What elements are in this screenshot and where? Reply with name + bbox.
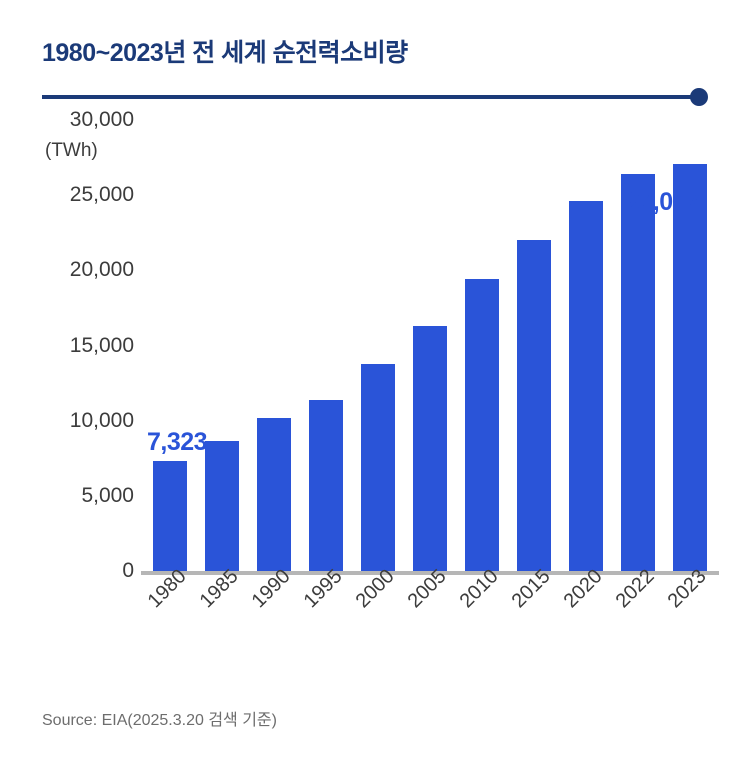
end-dot-icon xyxy=(690,88,708,106)
value-callout-last: 27,047 xyxy=(626,188,699,217)
x-axis-tick-slot: 2020 xyxy=(560,575,612,655)
x-axis-tick-slot: 1990 xyxy=(248,575,300,655)
bar[interactable] xyxy=(257,418,291,571)
bar-slot xyxy=(196,120,248,571)
bar-slot xyxy=(300,120,352,571)
y-axis-tick: 5,000 xyxy=(0,484,134,508)
bar-slot xyxy=(456,120,508,571)
bar[interactable] xyxy=(673,164,707,571)
x-axis-tick-slot: 1980 xyxy=(144,575,196,655)
infographic-chart-card: 1980~2023년 전 세계 순전력소비량 (TWh) 05,00010,00… xyxy=(0,0,745,764)
bar-chart: (TWh) 05,00010,00015,00020,00025,00030,0… xyxy=(0,120,745,660)
y-axis-tick: 10,000 xyxy=(0,409,134,433)
bar[interactable] xyxy=(569,201,603,571)
y-axis-tick: 0 xyxy=(0,559,134,583)
y-axis-tick: 20,000 xyxy=(0,258,134,282)
x-axis-tick-slot: 1995 xyxy=(300,575,352,655)
x-axis-tick-slot: 1985 xyxy=(196,575,248,655)
bar-slot xyxy=(404,120,456,571)
y-axis: 05,00010,00015,00020,00025,00030,000 xyxy=(0,120,134,660)
x-axis-tick-slot: 2022 xyxy=(612,575,664,655)
value-callout-first: 7,323 xyxy=(147,428,207,457)
source-note: Source: EIA(2025.3.20 검색 기준) xyxy=(42,706,277,730)
bar[interactable] xyxy=(205,441,239,571)
x-axis-tick-slot: 2015 xyxy=(508,575,560,655)
bar-slot xyxy=(560,120,612,571)
bar-slot xyxy=(248,120,300,571)
bar[interactable] xyxy=(153,461,187,571)
bar[interactable] xyxy=(309,400,343,571)
bar[interactable] xyxy=(361,364,395,571)
bar[interactable] xyxy=(413,326,447,571)
x-axis: 1980198519901995200020052010201520202022… xyxy=(144,575,716,655)
bar-slot xyxy=(144,120,196,571)
y-axis-tick: 15,000 xyxy=(0,334,134,358)
x-axis-tick-slot: 2000 xyxy=(352,575,404,655)
bar[interactable] xyxy=(465,279,499,571)
bar[interactable] xyxy=(517,240,551,571)
bar-slot xyxy=(508,120,560,571)
bar[interactable] xyxy=(621,174,655,571)
x-axis-tick-slot: 2005 xyxy=(404,575,456,655)
y-axis-tick: 25,000 xyxy=(0,183,134,207)
page-title: 1980~2023년 전 세계 순전력소비량 xyxy=(42,33,408,69)
x-axis-tick-slot: 2023 xyxy=(664,575,716,655)
x-axis-tick-slot: 2010 xyxy=(456,575,508,655)
divider-line xyxy=(42,95,706,99)
y-axis-tick: 30,000 xyxy=(0,108,134,132)
divider xyxy=(42,88,706,108)
bar-slot xyxy=(352,120,404,571)
